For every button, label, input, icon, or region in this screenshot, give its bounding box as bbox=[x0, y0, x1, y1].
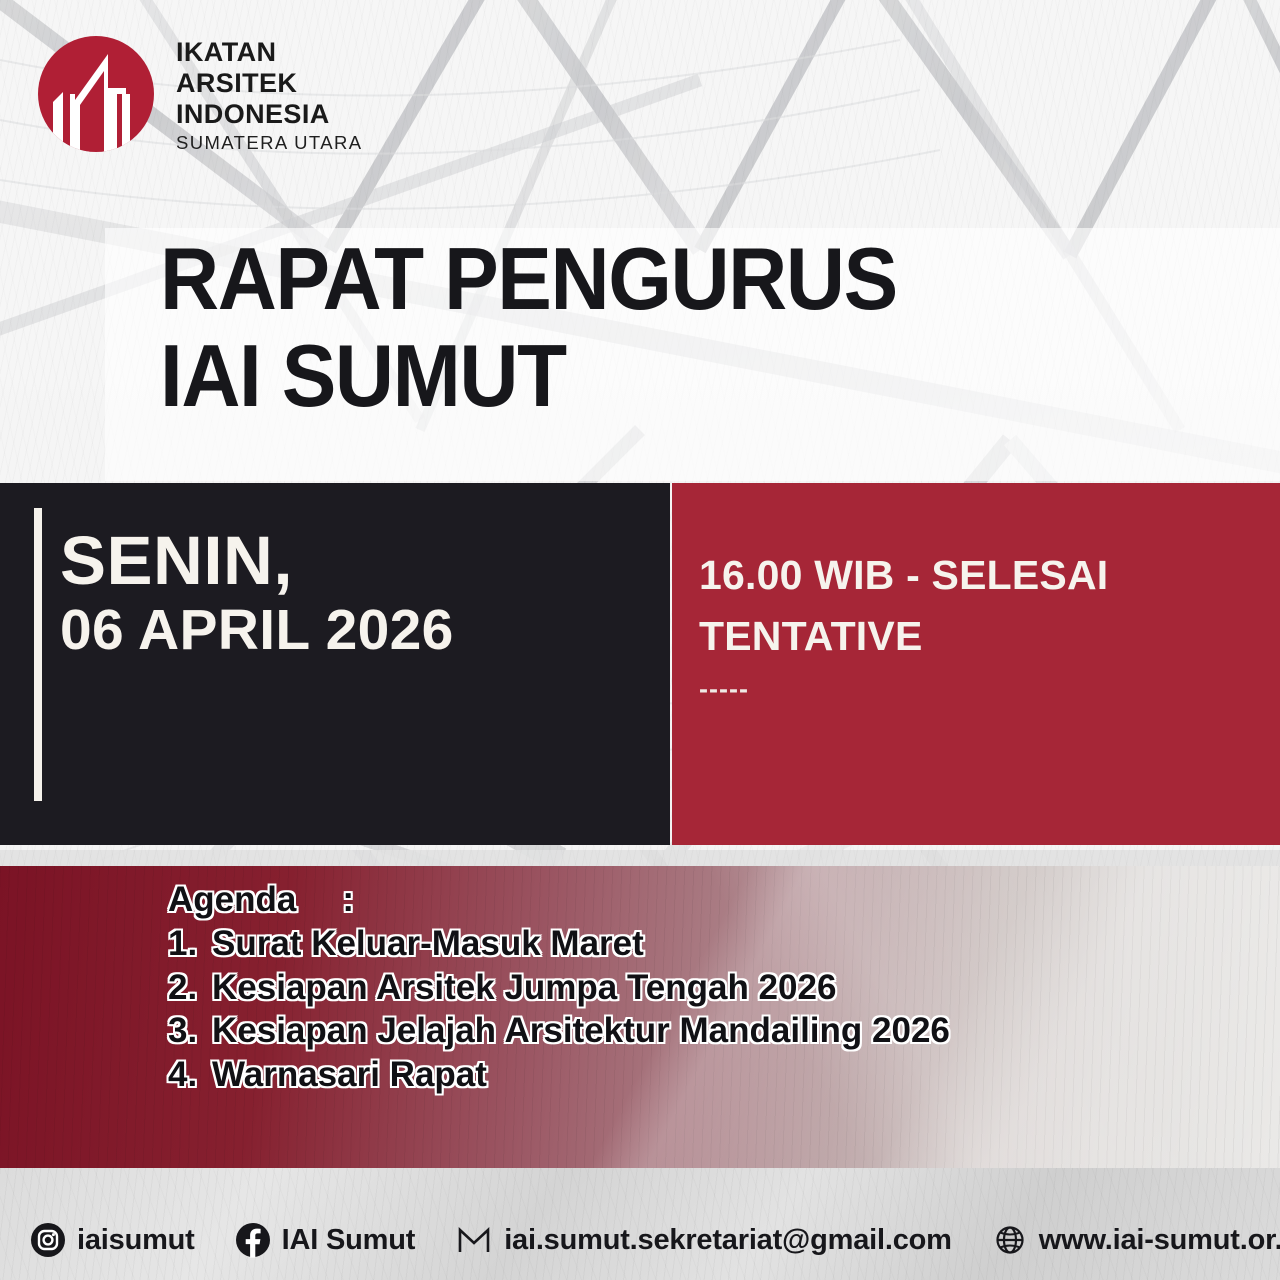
date-day: SENIN, bbox=[60, 526, 454, 595]
contact-instagram[interactable]: iaisumut bbox=[30, 1222, 195, 1258]
agenda-item-text: Kesiapan Arsitek Jumpa Tengah 2026 bbox=[212, 968, 836, 1007]
poster-canvas: IKATAN ARSITEK INDONESIA SUMATERA UTARA … bbox=[0, 0, 1280, 1280]
logo-line-2: ARSITEK bbox=[176, 70, 362, 97]
agenda-item-text: Surat Keluar-Masuk Maret bbox=[212, 924, 644, 963]
agenda-item-text: Kesiapan Jelajah Arsitektur Mandailing 2… bbox=[212, 1011, 950, 1050]
contact-website[interactable]: www.iai-sumut.or.id bbox=[992, 1222, 1280, 1258]
time-dashes: ----- bbox=[699, 674, 1108, 705]
agenda-heading: Agenda: bbox=[168, 878, 950, 922]
time-status: TENTATIVE bbox=[699, 606, 1108, 667]
page-title: RAPAT PENGURUS IAI SUMUT bbox=[160, 236, 1220, 419]
globe-icon bbox=[992, 1222, 1028, 1258]
gmail-icon bbox=[455, 1222, 493, 1258]
iai-logo: IKATAN ARSITEK INDONESIA SUMATERA UTARA bbox=[30, 28, 362, 160]
contact-email-label: iai.sumut.sekretariat@gmail.com bbox=[504, 1224, 952, 1257]
facebook-icon bbox=[235, 1222, 271, 1258]
iai-building-circle-logo-icon bbox=[30, 28, 162, 160]
date-block: SENIN, 06 APRIL 2026 bbox=[0, 483, 670, 845]
contact-website-label: www.iai-sumut.or.id bbox=[1039, 1224, 1280, 1257]
contact-instagram-label: iaisumut bbox=[77, 1224, 195, 1257]
date-full: 06 APRIL 2026 bbox=[60, 601, 454, 661]
agenda-item: 3.Kesiapan Jelajah Arsitektur Mandailing… bbox=[168, 1009, 950, 1053]
agenda-heading-colon: : bbox=[296, 880, 354, 919]
agenda-content: Agenda: 1.Surat Keluar-Masuk Maret 2.Kes… bbox=[168, 878, 950, 1097]
contact-facebook[interactable]: IAI Sumut bbox=[235, 1222, 416, 1258]
logo-chapter: SUMATERA UTARA bbox=[176, 134, 362, 153]
agenda-item-number: 4. bbox=[168, 1053, 212, 1097]
time-range: 16.00 WIB - SELESAI bbox=[699, 545, 1108, 606]
instagram-icon bbox=[30, 1222, 66, 1258]
contact-email[interactable]: iai.sumut.sekretariat@gmail.com bbox=[455, 1222, 952, 1258]
agenda-item-text: Warnasari Rapat bbox=[212, 1055, 487, 1094]
agenda-item-number: 1. bbox=[168, 922, 212, 966]
time-text-group: 16.00 WIB - SELESAI TENTATIVE ----- bbox=[699, 545, 1108, 705]
agenda-item: 1.Surat Keluar-Masuk Maret bbox=[168, 922, 950, 966]
date-text-group: SENIN, 06 APRIL 2026 bbox=[60, 526, 454, 661]
title-line-1: RAPAT PENGURUS bbox=[160, 236, 1146, 321]
logo-wordmark: IKATAN ARSITEK INDONESIA SUMATERA UTARA bbox=[176, 35, 362, 153]
agenda-band: Agenda: 1.Surat Keluar-Masuk Maret 2.Kes… bbox=[0, 866, 1280, 1168]
agenda-item-number: 2. bbox=[168, 966, 212, 1010]
agenda-item: 2.Kesiapan Arsitek Jumpa Tengah 2026 bbox=[168, 966, 950, 1010]
logo-line-3: INDONESIA bbox=[176, 101, 362, 128]
agenda-item: 4.Warnasari Rapat bbox=[168, 1053, 950, 1097]
time-block: 16.00 WIB - SELESAI TENTATIVE ----- bbox=[672, 483, 1280, 845]
title-line-2: IAI SUMUT bbox=[160, 333, 1146, 418]
date-accent-bar bbox=[34, 508, 42, 801]
footer-contact-bar: iaisumut IAI Sumut iai.sumut.sekretariat… bbox=[0, 1168, 1280, 1280]
agenda-heading-label: Agenda bbox=[168, 880, 296, 919]
logo-line-1: IKATAN bbox=[176, 39, 362, 66]
contact-facebook-label: IAI Sumut bbox=[282, 1224, 416, 1257]
footer-contacts: iaisumut IAI Sumut iai.sumut.sekretariat… bbox=[30, 1222, 1280, 1258]
agenda-item-number: 3. bbox=[168, 1009, 212, 1053]
